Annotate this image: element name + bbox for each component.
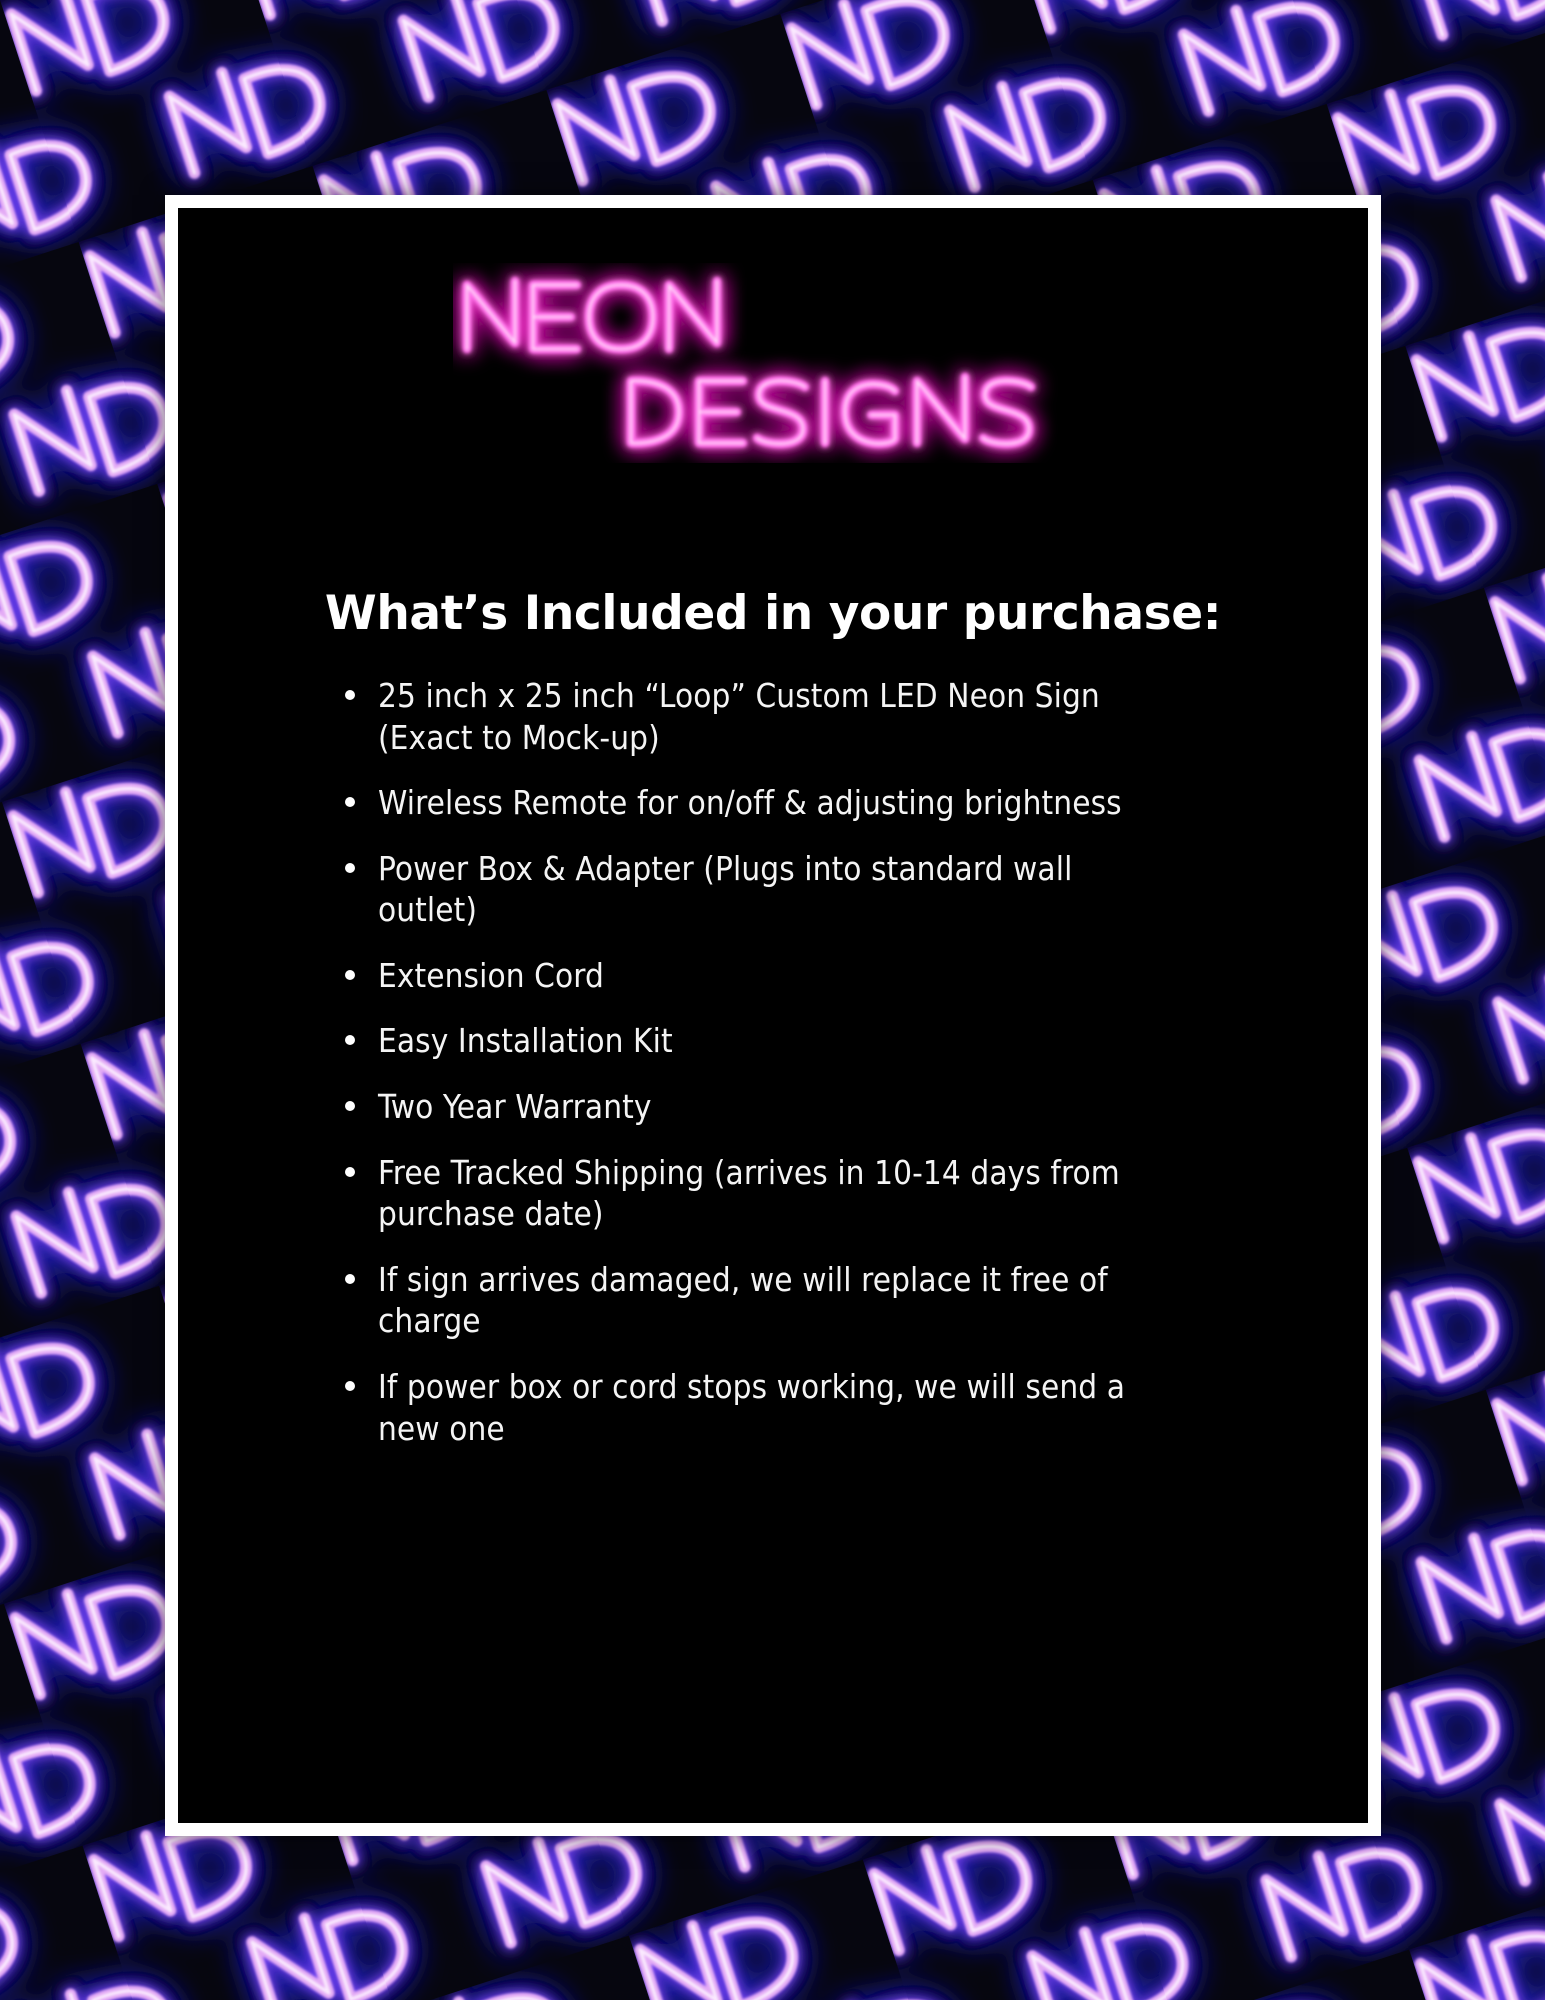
bullet-icon xyxy=(345,1381,355,1391)
bullet-icon xyxy=(345,970,355,980)
neon-designs-logo xyxy=(178,263,1368,478)
card-inner: What’s Included in your purchase: 25 inc… xyxy=(178,208,1368,1823)
list-item-text: Easy Installation Kit xyxy=(378,1021,673,1060)
list-item: Two Year Warranty xyxy=(333,1086,1163,1128)
list-item: 25 inch x 25 inch “Loop” Custom LED Neon… xyxy=(333,675,1163,758)
bullet-icon xyxy=(345,797,355,807)
list-item-text: Extension Cord xyxy=(378,956,604,995)
bullet-icon xyxy=(345,1274,355,1284)
list-item-text: Two Year Warranty xyxy=(378,1087,652,1126)
list-item-text: If power box or cord stops working, we w… xyxy=(378,1367,1125,1448)
list-item-text: Free Tracked Shipping (arrives in 10-14 … xyxy=(378,1153,1120,1234)
list-item: If power box or cord stops working, we w… xyxy=(333,1366,1163,1449)
bullet-icon xyxy=(345,1101,355,1111)
list-item-text: Wireless Remote for on/off & adjusting b… xyxy=(378,783,1122,822)
page-title: What’s Included in your purchase: xyxy=(178,586,1368,641)
bullet-icon xyxy=(345,1167,355,1177)
bullet-icon xyxy=(345,863,355,873)
included-items-list: 25 inch x 25 inch “Loop” Custom LED Neon… xyxy=(333,675,1163,1449)
list-item: Wireless Remote for on/off & adjusting b… xyxy=(333,782,1163,824)
list-item: Power Box & Adapter (Plugs into standard… xyxy=(333,848,1163,931)
content-card: What’s Included in your purchase: 25 inc… xyxy=(165,195,1381,1836)
list-item: If sign arrives damaged, we will replace… xyxy=(333,1259,1163,1342)
list-item-text: If sign arrives damaged, we will replace… xyxy=(378,1260,1108,1341)
bullet-icon xyxy=(345,690,355,700)
list-item-text: Power Box & Adapter (Plugs into standard… xyxy=(378,849,1072,930)
bullet-icon xyxy=(345,1035,355,1045)
list-item: Extension Cord xyxy=(333,955,1163,997)
list-item: Free Tracked Shipping (arrives in 10-14 … xyxy=(333,1152,1163,1235)
list-item: Easy Installation Kit xyxy=(333,1020,1163,1062)
list-item-text: 25 inch x 25 inch “Loop” Custom LED Neon… xyxy=(378,676,1100,757)
